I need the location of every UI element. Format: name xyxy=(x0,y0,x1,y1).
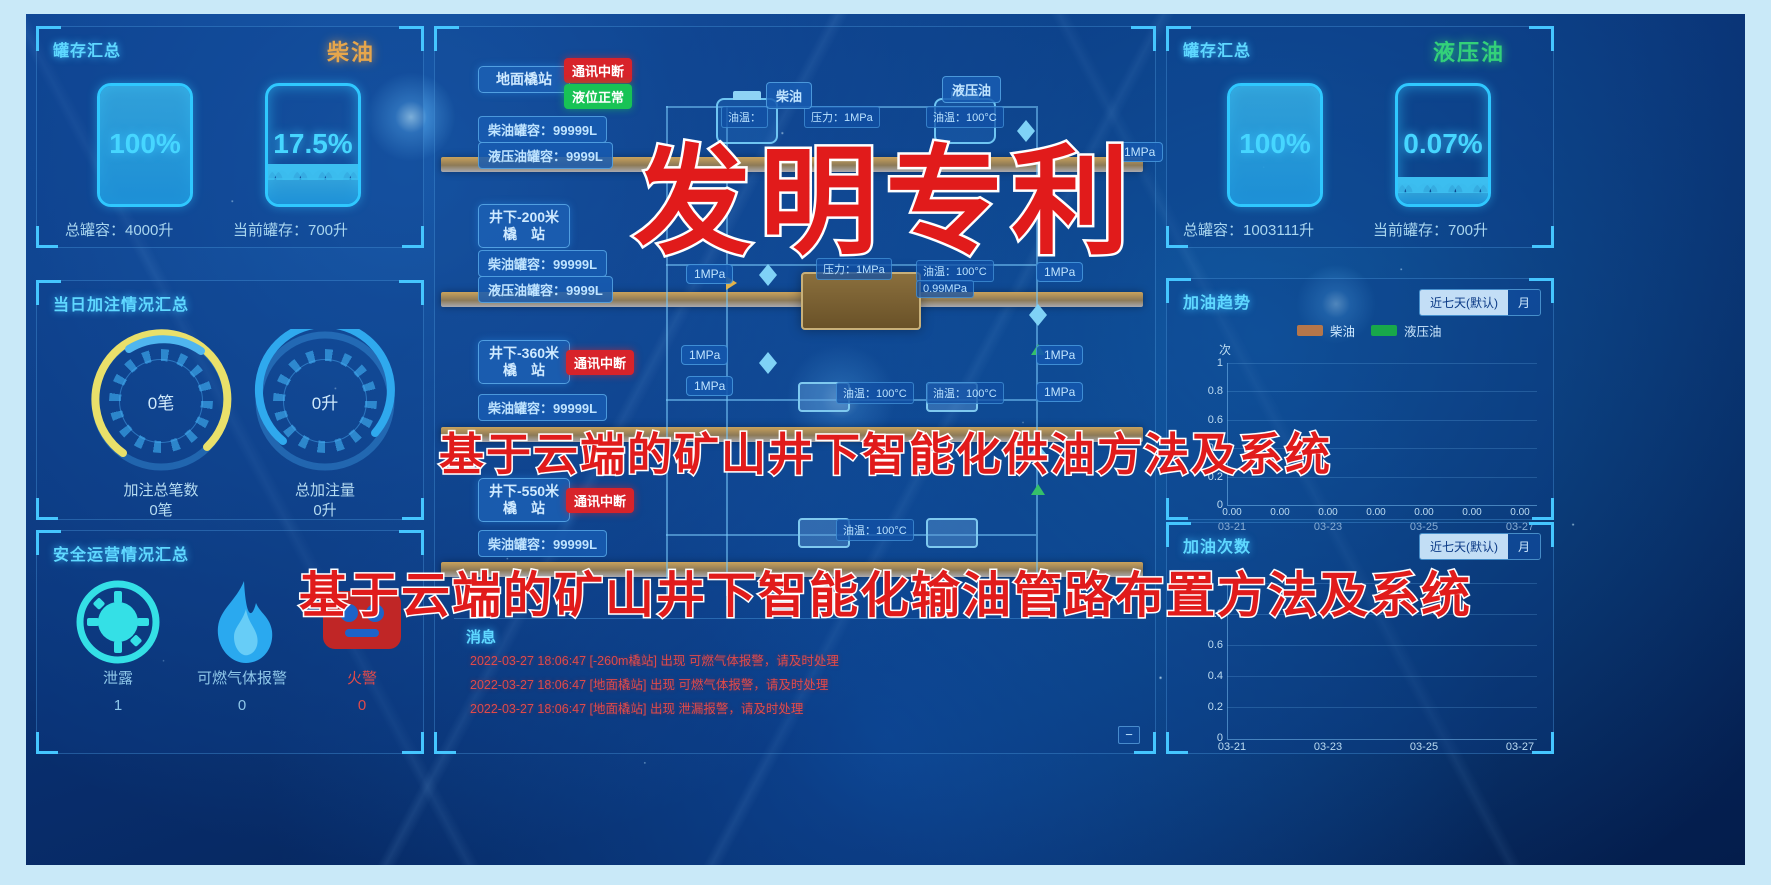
chart-ytick-count: 0.2 xyxy=(1197,701,1223,713)
tank-current-stock-hydraulic: 当前罐存：700升 xyxy=(1373,219,1488,240)
chart-xtick-count: 03-25 xyxy=(1401,741,1447,753)
chart-xtick-count: 03-27 xyxy=(1497,741,1543,753)
refuel-count-value: 0笔 xyxy=(89,329,233,473)
pressure-tag: 1MPa xyxy=(681,345,728,365)
safety-label-leak: 泄露 xyxy=(75,667,161,688)
donut-gauge-refuel-count: 0笔 xyxy=(89,329,233,473)
tank-total-percent-hydraulic: 100% xyxy=(1230,128,1320,160)
tank-gauge-current-diesel: 17.5% xyxy=(265,83,361,207)
safety-label-fire-alarm: 火警 xyxy=(309,667,415,688)
chart-xtick-count: 03-21 xyxy=(1209,741,1255,753)
tank-total-capacity-hydraulic: 总罐容：1003111升 xyxy=(1183,219,1314,240)
station-name-line2-m200: 橇 站 xyxy=(503,226,545,242)
status-badge-comm-lost-m550: 通讯中断 xyxy=(566,488,634,513)
refuel-volume-value: 0升 xyxy=(253,329,397,473)
chart-ytick-count: 0.4 xyxy=(1197,670,1223,682)
refuel-count-caption-line2: 0笔 xyxy=(149,502,172,519)
station-tank-diesel-m550: 柴油罐容：99999L xyxy=(478,530,607,557)
pressure-tag: 1MPa xyxy=(686,376,733,396)
product-label-diesel: 柴油 xyxy=(327,35,375,67)
refuel-volume-caption-line1: 总加注量 xyxy=(295,482,355,499)
station-tag-m360[interactable]: 井下-360米 橇 站 xyxy=(478,340,570,384)
station-tank-diesel-m200: 柴油罐容：99999L xyxy=(478,250,607,277)
station-name-line1-m200: 井下-200米 xyxy=(489,209,559,225)
chart-ytick-trend: 1 xyxy=(1197,357,1223,369)
panel-title-inventory-left: 罐存汇总 xyxy=(53,37,121,61)
readout-temp-row4: 油温：100°C xyxy=(836,519,914,541)
readout-pressure-099: 0.99MPa xyxy=(916,280,974,298)
message-log-line: 2022-03-27 18:06:47 [-260m橇站] 出现 可燃气体报警，… xyxy=(470,650,839,669)
message-log-line: 2022-03-27 18:06:47 [地面橇站] 出现 泄漏报警，请及时处理 xyxy=(470,698,803,717)
chart-point-label: 0.00 xyxy=(1209,507,1255,518)
watermark-line-2: 基于云端的矿山井下智能化输油管路布置方法及系统 xyxy=(299,556,1472,627)
tank-current-stock-diesel: 当前罐存：700升 xyxy=(233,219,348,240)
flame-icon xyxy=(202,579,282,672)
safety-label-gas-alarm: 可燃气体报警 xyxy=(187,667,297,688)
station-name-line1-m550: 井下-550米 xyxy=(489,483,559,499)
station-tank-hydraulic-surface: 液压油罐容：9999L xyxy=(478,142,613,169)
status-badge-comm-lost-m360: 通讯中断 xyxy=(566,350,634,375)
pipe-label-hydraulic-top: 液压油 xyxy=(942,76,1001,103)
safety-count-leak: 1 xyxy=(75,697,161,714)
message-log-line: 2022-03-27 18:06:47 [地面橇站] 出现 可燃气体报警，请及时… xyxy=(470,674,828,693)
panel-inventory-hydraulic: 罐存汇总 液压油 100% 0.07% 总罐容：1003111升 当前罐存：70… xyxy=(1166,26,1554,248)
pressure-tag: 1MPa xyxy=(1036,382,1083,402)
station-tag-m200[interactable]: 井下-200米 橇 站 xyxy=(478,204,570,248)
station-tank-diesel-m360: 柴油罐容：99999L xyxy=(478,394,607,421)
tank-gauge-total-hydraulic: 100% xyxy=(1227,83,1323,207)
chart-point-label: 0.00 xyxy=(1305,507,1351,518)
panel-refuel-trend: 加油趋势 近七天(默认) 月 柴油 液压油 次 xyxy=(1166,278,1554,520)
tank-current-percent-hydraulic: 0.07% xyxy=(1398,128,1488,160)
chart-point-label: 0.00 xyxy=(1449,507,1495,518)
product-label-hydraulic: 液压油 xyxy=(1433,35,1505,67)
chart-refuel-trend: 次 1 0.8 0.6 0.4 0.2 0 0.00 0.00 0.00 0.0… xyxy=(1167,279,1555,521)
pump-icon xyxy=(926,518,978,548)
refuel-count-caption-line1: 加注总笔数 xyxy=(123,482,198,499)
panel-title-inventory-right: 罐存汇总 xyxy=(1183,37,1251,61)
chart-xtick-count: 03-23 xyxy=(1305,741,1351,753)
safety-count-gas-alarm: 0 xyxy=(187,697,297,714)
station-tank-diesel-surface: 柴油罐容：99999L xyxy=(478,116,607,143)
safety-count-fire-alarm: 0 xyxy=(309,697,415,714)
big-tank-icon xyxy=(801,272,921,330)
station-name-line2-m360: 橇 站 xyxy=(503,362,545,378)
pipe-label-diesel-top: 柴油 xyxy=(766,82,812,109)
station-name-line1-m360: 井下-360米 xyxy=(489,345,559,361)
screenshot-root: 罐存汇总 柴油 100% 17.5% 总罐容：4000升 当前罐存：700升 当… xyxy=(0,0,1771,885)
tank-total-capacity-diesel: 总罐容：4000升 xyxy=(65,219,173,240)
station-name-line2-m550: 橇 站 xyxy=(503,500,545,516)
tank-current-percent-diesel: 17.5% xyxy=(268,128,358,160)
tank-gauge-current-hydraulic: 0.07% xyxy=(1395,83,1491,207)
station-tank-hydraulic-m200: 液压油罐容：9999L xyxy=(478,276,613,303)
readout-temp-row3b: 油温：100°C xyxy=(926,382,1004,404)
pressure-tag: 1MPa xyxy=(1036,345,1083,365)
chart-point-label: 0.00 xyxy=(1257,507,1303,518)
refuel-volume-caption-line2: 0升 xyxy=(313,502,336,519)
gear-leak-icon xyxy=(75,579,161,670)
chart-ytick-trend: 0.8 xyxy=(1197,385,1223,397)
chart-point-label: 0.00 xyxy=(1497,507,1543,518)
station-tag-surface[interactable]: 地面橇站 xyxy=(478,66,570,93)
readout-temp-row3: 油温：100°C xyxy=(836,382,914,404)
panel-title-safety: 安全运营情况汇总 xyxy=(53,541,189,565)
chart-ylabel-trend: 次 xyxy=(1219,341,1231,358)
panel-refuel-today: 当日加注情况汇总 0笔 0升 xyxy=(36,280,424,520)
chart-point-label: 0.00 xyxy=(1401,507,1447,518)
message-log-title: 消息 xyxy=(466,626,496,647)
panel-title-refuel-today: 当日加注情况汇总 xyxy=(53,291,189,315)
refuel-volume-caption: 总加注量 0升 xyxy=(253,481,397,521)
flow-arrow-up xyxy=(1031,484,1045,495)
chart-ytick-count: 0.6 xyxy=(1197,639,1223,651)
status-badge-comm-lost-surface: 通讯中断 xyxy=(564,58,632,83)
tank-total-percent-diesel: 100% xyxy=(100,128,190,160)
station-tag-m550[interactable]: 井下-550米 橇 站 xyxy=(478,478,570,522)
zoom-out-button[interactable]: − xyxy=(1118,726,1140,744)
dashboard-screen: 罐存汇总 柴油 100% 17.5% 总罐容：4000升 当前罐存：700升 当… xyxy=(26,14,1745,865)
status-badge-level-normal-surface: 液位正常 xyxy=(564,84,632,109)
watermark-patent-title: 发明专利 xyxy=(633,106,1137,277)
panel-inventory-diesel: 罐存汇总 柴油 100% 17.5% 总罐容：4000升 当前罐存：700升 xyxy=(36,26,424,248)
chart-point-label: 0.00 xyxy=(1353,507,1399,518)
donut-gauge-refuel-volume: 0升 xyxy=(253,329,397,473)
refuel-count-caption: 加注总笔数 0笔 xyxy=(89,481,233,521)
watermark-line-1: 基于云端的矿山井下智能化供油方法及系统 xyxy=(439,418,1332,483)
tank-gauge-total-diesel: 100% xyxy=(97,83,193,207)
